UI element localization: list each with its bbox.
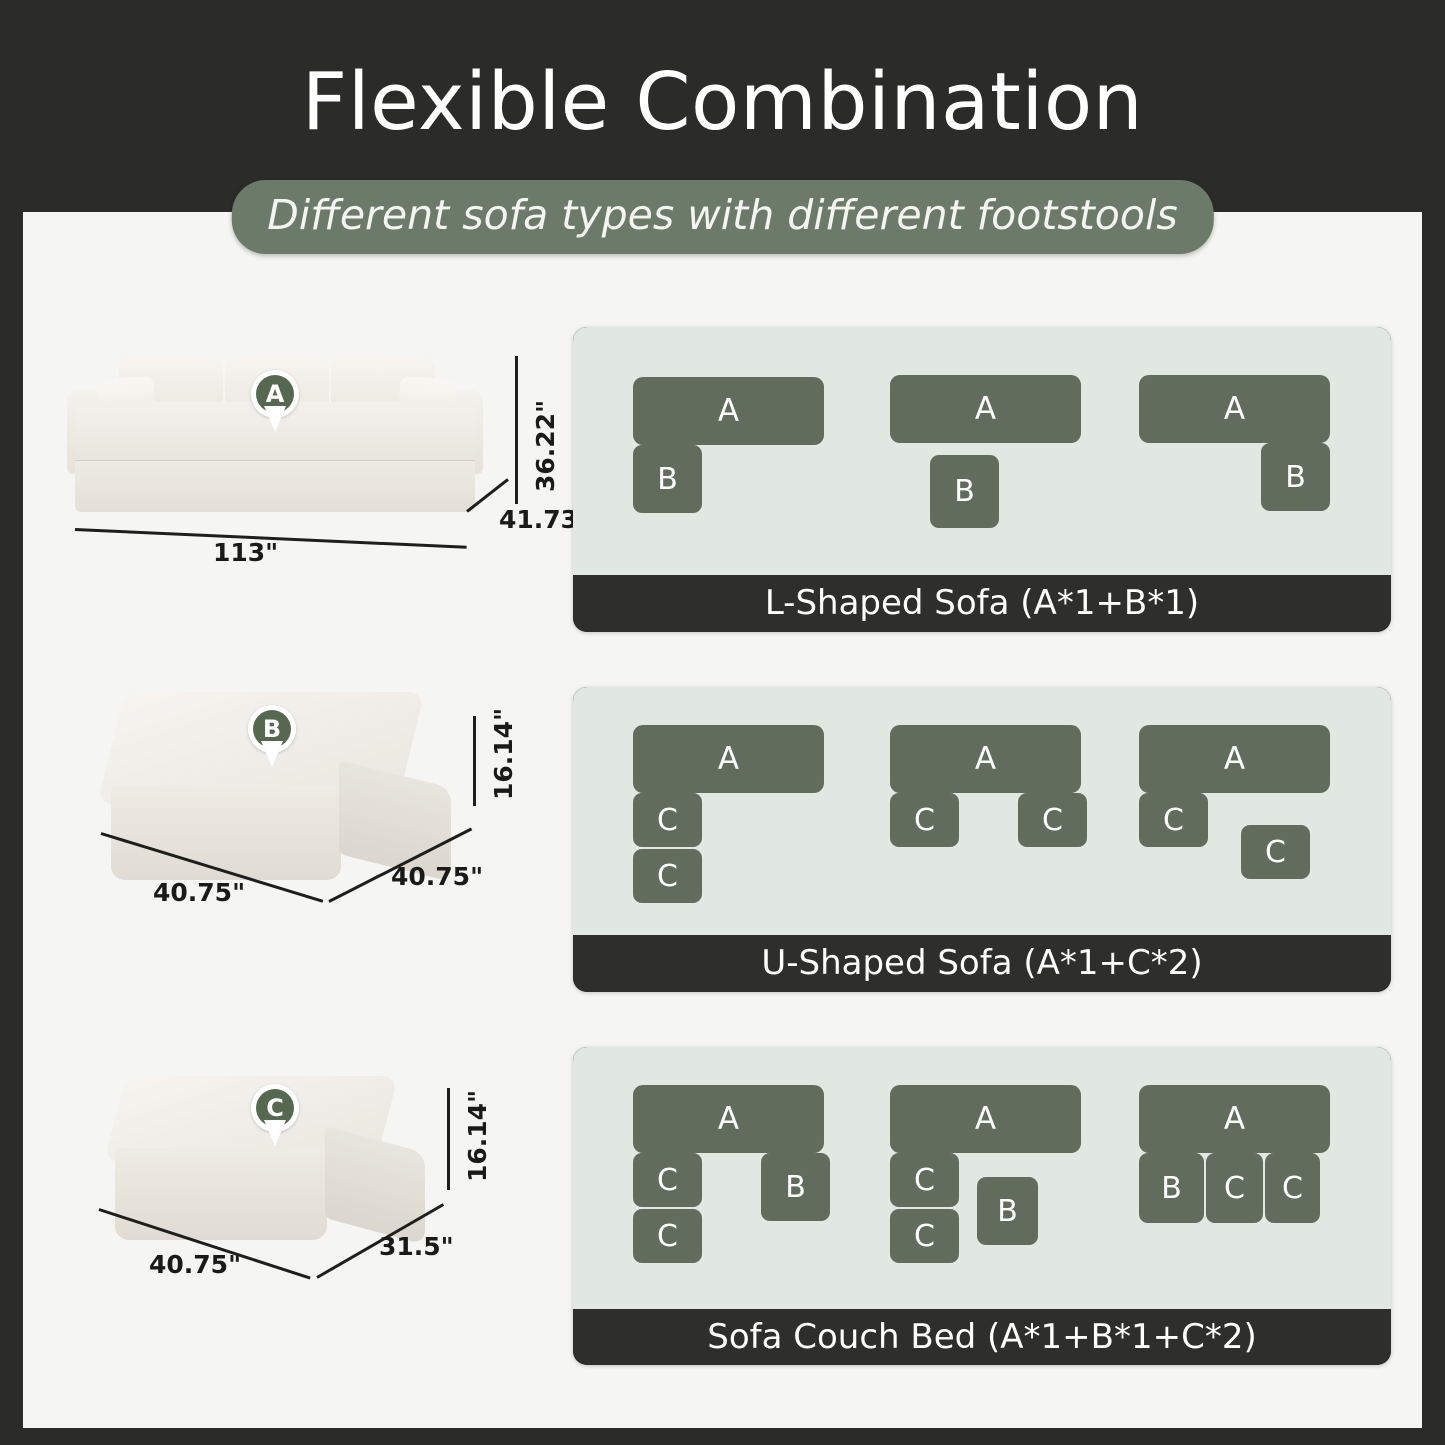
dimension-depth-c: 31.5"	[379, 1232, 454, 1261]
combination-caption: L-Shaped Sofa (A*1+B*1)	[573, 575, 1391, 632]
module-block-c: C	[890, 1209, 959, 1263]
dimension-height-b: 16.14"	[489, 708, 518, 800]
module-block-b: B	[633, 445, 702, 513]
ottoman-front-face	[111, 786, 341, 880]
pin-marker-b: B	[248, 705, 296, 767]
pin-marker-a: A	[251, 370, 299, 432]
content-stage: A 113" 41.73" 36.22" B 40.75" 40.75" 16.…	[23, 212, 1422, 1428]
module-block-c: C	[633, 1209, 702, 1263]
subtitle-text: Different sofa types with different foot…	[267, 190, 1177, 240]
combination-panel-l-shaped: ABABAB L-Shaped Sofa (A*1+B*1)	[573, 327, 1391, 632]
dimension-line-height-b	[473, 716, 476, 806]
ottoman-side-face	[325, 1126, 425, 1245]
module-block-a: A	[890, 375, 1081, 443]
dimension-width-c: 40.75"	[149, 1250, 241, 1279]
combination-panel-sofa-couch-bed: ACCBACCBABCC Sofa Couch Bed (A*1+B*1+C*2…	[573, 1047, 1391, 1365]
module-block-a: A	[633, 377, 824, 445]
module-block-c: C	[633, 849, 702, 903]
dimension-line-height-c	[447, 1088, 450, 1190]
subtitle-pill: Different sofa types with different foot…	[231, 180, 1213, 254]
module-block-c: C	[890, 1153, 959, 1207]
combination-diagram: ACCBACCBABCC	[573, 1047, 1391, 1309]
dimension-height-c: 16.14"	[463, 1090, 492, 1182]
module-block-a: A	[633, 1085, 824, 1153]
dimension-height-a: 36.22"	[531, 400, 560, 492]
module-block-a: A	[633, 725, 824, 793]
module-block-c: C	[1265, 1153, 1320, 1223]
pin-tail	[264, 1120, 286, 1146]
dimension-line-height-a	[515, 356, 518, 504]
module-block-b: B	[1139, 1153, 1204, 1223]
combination-diagram: ACCACCACC	[573, 687, 1391, 935]
module-block-a: A	[1139, 725, 1330, 793]
module-block-b: B	[761, 1153, 830, 1221]
module-block-a: A	[890, 1085, 1081, 1153]
module-block-c: C	[1018, 793, 1087, 847]
pin-marker-c: C	[251, 1084, 299, 1146]
module-block-a: A	[1139, 1085, 1330, 1153]
module-block-b: B	[977, 1177, 1038, 1245]
combination-diagram: ABABAB	[573, 327, 1391, 575]
module-block-c: C	[633, 793, 702, 847]
combination-caption: Sofa Couch Bed (A*1+B*1+C*2)	[573, 1309, 1391, 1365]
module-block-c: C	[1241, 825, 1310, 879]
product-figure-b: B 40.75" 40.75" 16.14"	[53, 682, 573, 962]
module-block-b: B	[930, 455, 999, 528]
product-figure-a: A 113" 41.73" 36.22"	[53, 342, 573, 622]
page-title: Flexible Combination	[0, 58, 1445, 146]
pin-tail	[264, 406, 286, 432]
module-block-c: C	[1206, 1153, 1263, 1223]
combination-panel-u-shaped: ACCACCACC U-Shaped Sofa (A*1+C*2)	[573, 687, 1391, 992]
module-block-b: B	[1261, 443, 1330, 511]
dimension-depth-b: 40.75"	[391, 862, 483, 891]
sofa-illustration-a	[53, 342, 573, 622]
module-block-a: A	[890, 725, 1081, 793]
module-block-a: A	[1139, 375, 1330, 443]
dimension-width-b: 40.75"	[153, 878, 245, 907]
module-block-c: C	[633, 1153, 702, 1207]
module-block-c: C	[1139, 793, 1208, 847]
pin-tail	[261, 741, 283, 767]
dimension-width-a: 113"	[213, 538, 278, 567]
product-figure-c: C 40.75" 31.5" 16.14"	[53, 1062, 573, 1342]
sofa-plinth	[75, 460, 475, 512]
ottoman-illustration-c	[53, 1062, 573, 1342]
combination-caption: U-Shaped Sofa (A*1+C*2)	[573, 935, 1391, 992]
module-block-c: C	[890, 793, 959, 847]
